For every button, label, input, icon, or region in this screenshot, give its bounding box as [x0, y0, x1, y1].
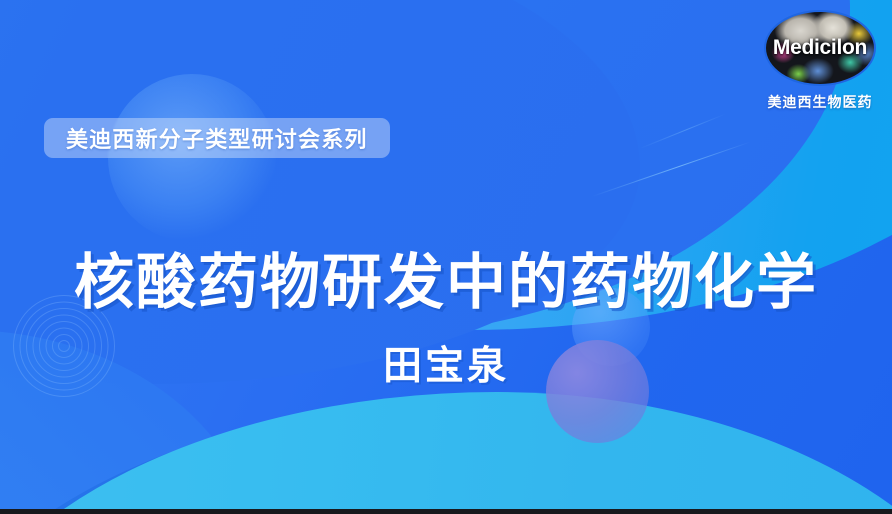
series-badge: 美迪西新分子类型研讨会系列: [44, 118, 390, 158]
logo-wordmark: Medicilon: [766, 36, 874, 60]
logo-caption: 美迪西生物医药: [762, 92, 878, 112]
speaker-name: 田宝泉: [0, 335, 892, 391]
medicilon-oval-logo-icon: Medicilon: [764, 10, 876, 86]
brand-logo: Medicilon 美迪西生物医药: [762, 10, 878, 112]
page-title: 核酸药物研发中的药物化学: [0, 251, 892, 316]
bottom-edge-strip: [0, 509, 892, 514]
glow-circle-decoration: [108, 74, 276, 242]
title-slide: Medicilon 美迪西生物医药 美迪西新分子类型研讨会系列 核酸药物研发中的…: [0, 0, 892, 514]
